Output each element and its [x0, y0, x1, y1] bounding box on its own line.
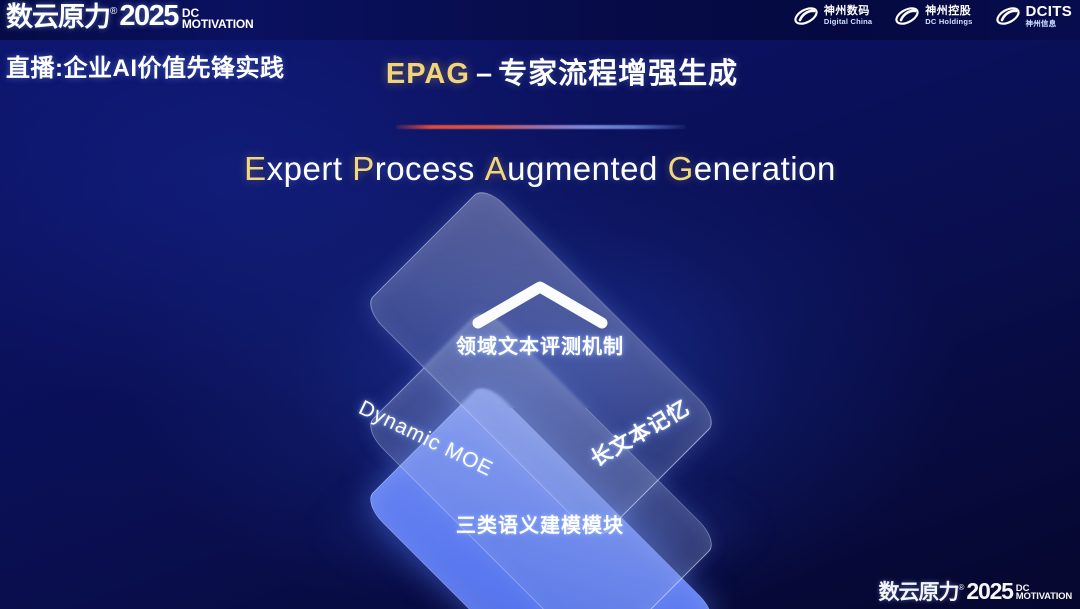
subtitle-initial-p: P	[352, 150, 375, 187]
subtitle-word-expert: xpert	[267, 150, 343, 187]
subtitle-word-augmented: ugmented	[507, 150, 658, 187]
partner-label-dcits: DCITS 神州信息	[1026, 4, 1073, 28]
brand-logo: 数云原力 ® 2025 DC MOTIVATION	[6, 2, 253, 31]
subtitle-word-process: rocess	[375, 150, 475, 187]
subtitle-initial-g: G	[668, 150, 694, 187]
stack-label-bottom: 三类语义建模模块	[444, 509, 636, 538]
gradient-divider	[396, 125, 686, 129]
subtitle-word-generation: eneration	[694, 150, 836, 187]
watermark-chinese: 数云原力	[878, 582, 958, 603]
chevron-up-icon	[468, 277, 612, 333]
subtitle-initial-a: A	[485, 150, 508, 187]
partner-logo-dcits: DCITS 神州信息	[995, 4, 1073, 28]
partner-name-cn: 神州信息	[1026, 20, 1073, 28]
watermark-motivation-text: MOTIVATION	[1016, 593, 1072, 602]
brand-logo-dc-motivation: DC MOTIVATION	[182, 8, 254, 30]
page-title: EPAG–专家流程增强生成	[0, 50, 1080, 92]
swirl-logo-icon	[995, 4, 1021, 28]
title-dash: –	[470, 58, 498, 90]
layer-stack-diagram: 领域文本评测机制 Dynamic MOE 长文本记忆 三类语义建模模块	[250, 215, 830, 575]
partner-name-en: DC Holdings	[925, 18, 972, 26]
partner-label-digital-china: 神州数码 Digital China	[824, 6, 872, 25]
subtitle-expansion: Expert Process Augmented Generation	[0, 150, 1080, 188]
partner-label-dc-holdings: 神州控股 DC Holdings	[925, 6, 972, 25]
watermark-dc-motivation: DC MOTIVATION	[1016, 585, 1072, 602]
subtitle-initial-e: E	[244, 150, 267, 187]
partner-name-en: Digital China	[824, 18, 872, 26]
watermark-registered-mark: ®	[958, 583, 964, 592]
slide-canvas: 数云原力 ® 2025 DC MOTIVATION 直播:企业AI价值先锋实践 …	[0, 0, 1080, 609]
title-chinese: 专家流程增强生成	[498, 58, 738, 90]
swirl-logo-icon	[793, 4, 819, 28]
watermark-year: 2025	[966, 580, 1012, 603]
title-abbreviation: EPAG	[386, 58, 470, 90]
brand-logo-year: 2025	[119, 2, 178, 31]
brand-registered-mark: ®	[110, 7, 117, 17]
partner-name-en: DCITS	[1026, 4, 1073, 20]
brand-logo-chinese: 数云原力	[6, 4, 110, 31]
brand-motivation-text: MOTIVATION	[182, 19, 254, 30]
partner-logo-group: 神州数码 Digital China 神州控股 DC Holdings DCIT…	[793, 4, 1072, 28]
swirl-logo-icon	[894, 4, 920, 28]
partner-logo-digital-china: 神州数码 Digital China	[793, 4, 872, 28]
corner-watermark-logo: 数云原力 ® 2025 DC MOTIVATION	[878, 580, 1072, 603]
stack-label-top: 领域文本评测机制	[444, 330, 636, 359]
partner-logo-dc-holdings: 神州控股 DC Holdings	[894, 4, 972, 28]
